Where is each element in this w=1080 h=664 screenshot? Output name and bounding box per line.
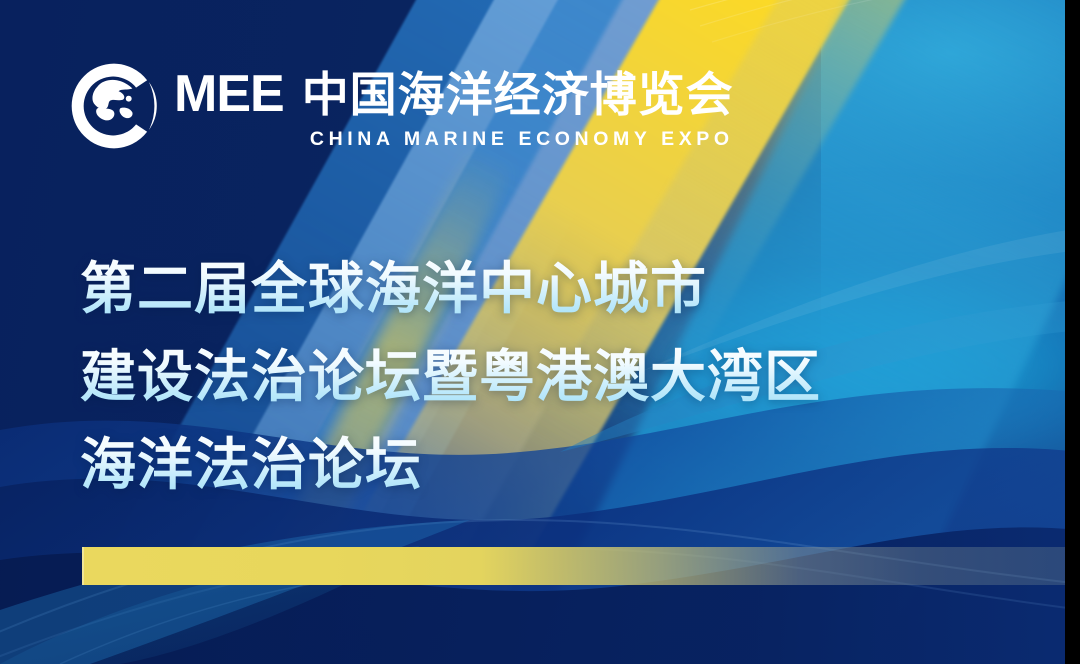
gold-accent-bar [82,547,1080,585]
poster-headline: 第二届全球海洋中心城市 建设法治论坛暨粤港澳大湾区 海洋法治论坛 [80,246,940,510]
cmee-globe-c-icon [68,60,160,152]
right-bezel-strip [1065,0,1080,664]
logo-name-cn: 中国海洋经济博览会 [302,72,734,119]
event-poster: MEE 中国海洋经济博览会 CHINA MARINE ECONOMY EXPO … [0,0,1080,664]
logo-text-block: MEE 中国海洋经济博览会 CHINA MARINE ECONOMY EXPO [174,62,734,150]
cmee-logo: MEE 中国海洋经济博览会 CHINA MARINE ECONOMY EXPO [68,62,734,152]
logo-wordmark-mee: MEE [174,68,284,120]
headline-line-1: 第二届全球海洋中心城市 [80,246,940,334]
logo-name-en: CHINA MARINE ECONOMY EXPO [174,130,734,150]
headline-line-3: 海洋法治论坛 [80,422,940,510]
gold-accent-bar-edge [82,547,84,585]
headline-line-2: 建设法治论坛暨粤港澳大湾区 [80,334,940,422]
